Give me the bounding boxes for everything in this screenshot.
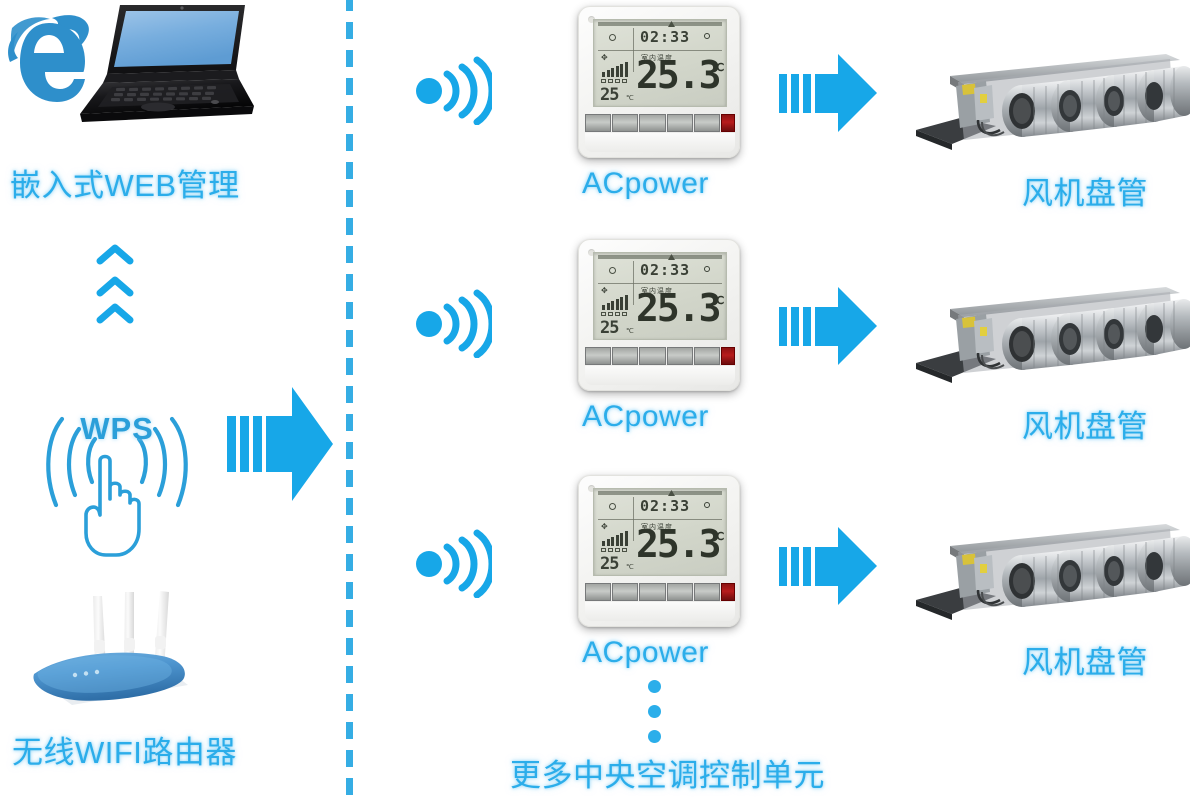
lcd-setpoint-unit: ℃ xyxy=(626,94,634,102)
lcd-fan-icon: ✥ xyxy=(601,286,608,295)
lcd-setpoint-unit: ℃ xyxy=(626,563,634,571)
thermostat-base-panel xyxy=(585,133,735,152)
lcd-weekday-ticks xyxy=(601,548,627,552)
lcd-mode-icon xyxy=(609,267,616,274)
lcd-divider-horizontal xyxy=(598,50,722,51)
wps-label: WPS xyxy=(22,411,212,447)
lcd-weekday-ticks xyxy=(601,79,627,83)
footer-caption: 更多中央空调控制单元 xyxy=(510,750,825,795)
thermostat-lcd-3: 02:33 ✥ 25 ℃ 室内温度 25.3 ℃ xyxy=(593,488,727,576)
thermostat-button[interactable] xyxy=(694,114,720,132)
fan-coil-caption-2: 风机盘管 xyxy=(1022,401,1148,446)
thermostat-button[interactable] xyxy=(585,347,611,365)
controller-caption-3: ACpower xyxy=(582,636,709,670)
wifi-signal-icon-3 xyxy=(412,528,492,603)
wps-button-group[interactable]: WPS xyxy=(22,383,212,573)
fan-coil-caption-1: 风机盘管 xyxy=(1022,168,1148,213)
vertical-ellipsis-icon xyxy=(648,680,661,743)
thermostat-base-panel xyxy=(585,602,735,621)
wifi-signal-icon-1 xyxy=(412,55,492,130)
router-caption: 无线WIFI路由器 xyxy=(12,727,237,772)
lcd-clock-icon xyxy=(704,266,710,272)
lcd-setpoint: 25 xyxy=(600,554,618,574)
left-flow-arrow xyxy=(226,385,334,508)
thermostat-controller-3[interactable]: 02:33 ✥ 25 ℃ 室内温度 25.3 ℃ xyxy=(578,475,740,627)
lcd-time: 02:33 xyxy=(640,497,690,515)
controller-to-faincoil-arrow-3 xyxy=(778,525,878,612)
lcd-fan-speed-bars xyxy=(602,295,628,310)
lcd-temperature: 25.3 xyxy=(636,525,720,563)
fan-coil-caption-3: 风机盘管 xyxy=(1022,637,1148,682)
vertical-dashed-divider xyxy=(346,0,353,800)
thermostat-power-button[interactable] xyxy=(721,114,735,132)
lcd-fan-speed-bars xyxy=(602,62,628,77)
diagram-canvas: 嵌入式WEB管理 WPS xyxy=(0,0,1200,795)
ellipsis-dot xyxy=(648,705,661,718)
controller-caption-1: ACpower xyxy=(582,167,709,201)
lcd-time: 02:33 xyxy=(640,261,690,279)
thermostat-button[interactable] xyxy=(694,347,720,365)
controller-caption-2: ACpower xyxy=(582,400,709,434)
internet-explorer-icon xyxy=(0,6,96,110)
lcd-divider-horizontal xyxy=(598,519,722,520)
thermostat-controller-2[interactable]: 02:33 ✥ 25 ℃ 室内温度 25.3 ℃ xyxy=(578,239,740,391)
lcd-mode-icon xyxy=(609,34,616,41)
ellipsis-dot xyxy=(648,730,661,743)
thermostat-button[interactable] xyxy=(612,347,638,365)
lcd-temperature: 25.3 xyxy=(636,56,720,94)
thermostat-controller-1[interactable]: 02:33 ✥ 25 ℃ 室内温度 25.3 ℃ xyxy=(578,6,740,158)
fan-coil-unit-icon-2 xyxy=(908,281,1190,399)
thermostat-button[interactable] xyxy=(585,114,611,132)
thermostat-lcd-1: 02:33 ✥ 25 ℃ 室内温度 25.3 ℃ xyxy=(593,19,727,107)
thermostat-lcd-2: 02:33 ✥ 25 ℃ 室内温度 25.3 ℃ xyxy=(593,252,727,340)
chevron-up-icon xyxy=(96,302,134,324)
wifi-router-icon xyxy=(12,582,272,727)
lcd-fan-icon: ✥ xyxy=(601,53,608,62)
chevron-up-icon-group xyxy=(96,243,134,324)
fan-coil-unit-icon-1 xyxy=(908,48,1190,166)
thermostat-button[interactable] xyxy=(694,583,720,601)
lcd-setpoint: 25 xyxy=(600,85,618,105)
lcd-weekday-ticks xyxy=(601,312,627,316)
thermostat-button[interactable] xyxy=(639,583,665,601)
thermostat-button[interactable] xyxy=(639,347,665,365)
thermostat-power-button[interactable] xyxy=(721,583,735,601)
fan-coil-unit-icon-3 xyxy=(908,518,1190,636)
thermostat-button[interactable] xyxy=(667,347,693,365)
thermostat-base-panel xyxy=(585,366,735,385)
lcd-temperature-unit: ℃ xyxy=(712,530,724,543)
controller-to-faincoil-arrow-2 xyxy=(778,285,878,372)
lcd-mode-icon xyxy=(609,503,616,510)
thermostat-button[interactable] xyxy=(667,114,693,132)
lcd-top-bar xyxy=(598,491,722,495)
thermostat-button[interactable] xyxy=(667,583,693,601)
lcd-fan-speed-bars xyxy=(602,531,628,546)
wifi-signal-icon-2 xyxy=(412,288,492,363)
chevron-up-icon xyxy=(96,275,134,297)
lcd-temperature-unit: ℃ xyxy=(712,61,724,74)
thermostat-button[interactable] xyxy=(612,114,638,132)
lcd-fan-icon: ✥ xyxy=(601,522,608,531)
lcd-top-bar xyxy=(598,22,722,26)
thermostat-button-row-2[interactable] xyxy=(585,347,735,365)
controller-to-faincoil-arrow-1 xyxy=(778,52,878,139)
thermostat-button-row-3[interactable] xyxy=(585,583,735,601)
lcd-divider-horizontal xyxy=(598,283,722,284)
ellipsis-dot xyxy=(648,680,661,693)
lcd-setpoint-unit: ℃ xyxy=(626,327,634,335)
chevron-up-icon xyxy=(96,243,134,265)
thermostat-power-button[interactable] xyxy=(721,347,735,365)
thermostat-button[interactable] xyxy=(585,583,611,601)
laptop-caption: 嵌入式WEB管理 xyxy=(10,160,240,205)
lcd-temperature: 25.3 xyxy=(636,289,720,327)
lcd-clock-icon xyxy=(704,502,710,508)
lcd-setpoint: 25 xyxy=(600,318,618,338)
lcd-time: 02:33 xyxy=(640,28,690,46)
lcd-clock-icon xyxy=(704,33,710,39)
lcd-temperature-unit: ℃ xyxy=(712,294,724,307)
thermostat-button-row-1[interactable] xyxy=(585,114,735,132)
thermostat-button[interactable] xyxy=(612,583,638,601)
lcd-top-bar xyxy=(598,255,722,259)
thermostat-button[interactable] xyxy=(639,114,665,132)
